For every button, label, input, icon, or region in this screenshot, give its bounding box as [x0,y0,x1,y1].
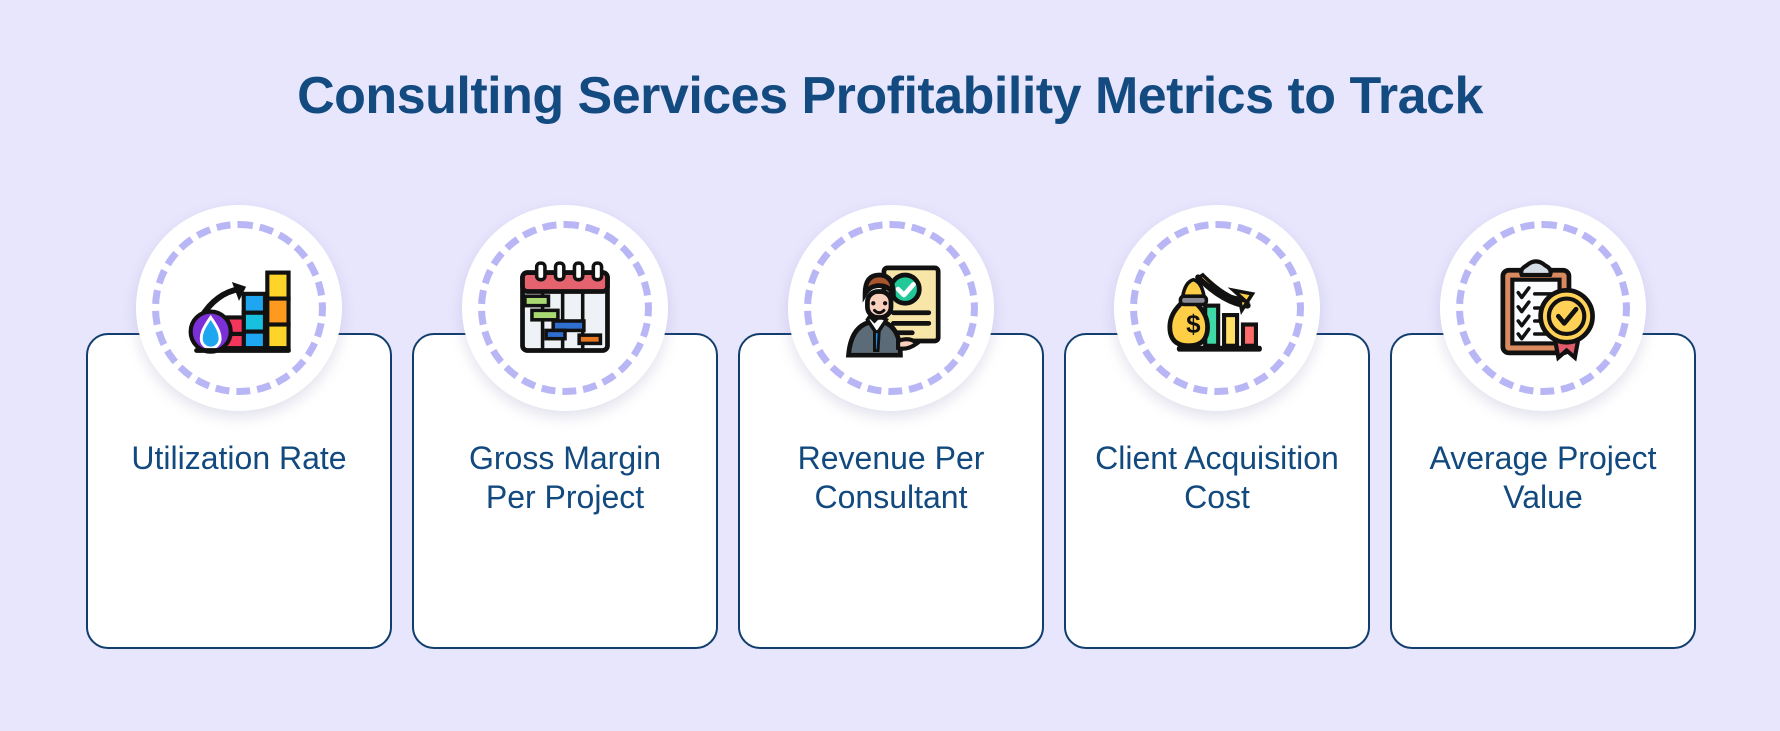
infographic-page: Consulting Services Profitability Metric… [0,0,1780,731]
metric-card-list: Utilization Rate [86,333,1696,649]
gantt-calendar-icon [506,249,624,367]
bar-chart-growth-icon [180,249,298,367]
metric-label: Gross Margin Per Project [440,439,690,517]
metric-label: Revenue Per Consultant [766,439,1016,517]
money-bag-declining-chart-icon: $ [1158,249,1276,367]
svg-text:$: $ [1186,309,1201,339]
icon-badge: $ [1114,205,1320,411]
consultant-document-icon [832,249,950,367]
icon-badge [462,205,668,411]
metric-label: Client Acquisition Cost [1092,439,1342,517]
icon-badge [1440,205,1646,411]
icon-badge [136,205,342,411]
metric-card[interactable]: Gross Margin Per Project [412,333,718,649]
metric-label: Average Project Value [1418,439,1668,517]
clipboard-award-icon [1484,249,1602,367]
metric-label: Utilization Rate [114,439,364,478]
page-title: Consulting Services Profitability Metric… [0,66,1780,126]
metric-card[interactable]: $ Client Acquisition Cost [1064,333,1370,649]
icon-badge [788,205,994,411]
metric-card[interactable]: Utilization Rate [86,333,392,649]
metric-card[interactable]: Revenue Per Consultant [738,333,1044,649]
metric-card[interactable]: Average Project Value [1390,333,1696,649]
